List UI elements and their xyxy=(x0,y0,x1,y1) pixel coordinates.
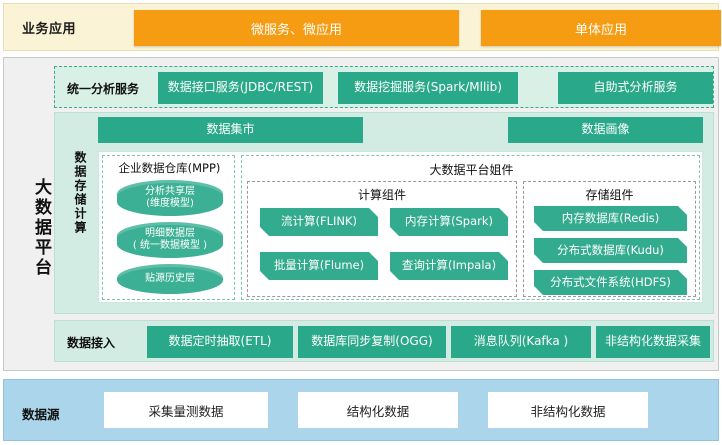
app-button-microservice[interactable]: 微服务、微应用 xyxy=(134,10,459,46)
compute-item-spark[interactable]: 内存计算(Spark) xyxy=(390,208,508,236)
data-ingestion-strip: 数据接入 数据定时抽取(ETL) 数据库同步复制(OGG) 消息队列(Kafka… xyxy=(54,320,714,362)
ingestion-item-etl[interactable]: 数据定时抽取(ETL) xyxy=(147,326,293,358)
unified-analysis-service-strip: 统一分析服务 数据接口服务(JDBC/REST) 数据挖掘服务(Spark/Ml… xyxy=(54,66,714,108)
big-data-platform-band: 大数据平台 统一分析服务 数据接口服务(JDBC/REST) 数据挖掘服务(Sp… xyxy=(3,57,719,371)
data-source-label: 数据源 xyxy=(22,404,60,423)
compute-item-flume[interactable]: 批量计算(Flume) xyxy=(260,252,378,280)
big-data-platform-label: 大数据平台 xyxy=(14,178,54,278)
analysis-item-data-mining[interactable]: 数据挖掘服务(Spark/Mllib) xyxy=(338,72,518,104)
data-ingestion-label: 数据接入 xyxy=(67,334,115,351)
data-source-item-unstructured[interactable]: 非结构化数据 xyxy=(488,392,648,428)
compute-components-title: 计算组件 xyxy=(248,186,516,203)
storage-compute-section: 数据存储计算 数据集市 数据画像 企业数据仓库(MPP) 分析共享层 (维度模型… xyxy=(54,112,714,314)
ingestion-item-unstructured[interactable]: 非结构化数据采集 xyxy=(596,326,710,358)
compute-item-impala[interactable]: 查询计算(Impala) xyxy=(390,252,508,280)
data-source-item-measurement[interactable]: 采集量测数据 xyxy=(104,392,268,428)
analysis-item-data-interface[interactable]: 数据接口服务(JDBC/REST) xyxy=(158,72,323,104)
mpp-warehouse-box: 企业数据仓库(MPP) 分析共享层 (维度模型) 明细数据层 ( 统一数据模型 … xyxy=(102,155,235,300)
analysis-item-self-service[interactable]: 自助式分析服务 xyxy=(558,72,713,104)
bdp-components-title: 大数据平台姐件 xyxy=(242,161,701,178)
compute-components-box: 计算组件 流计算(FLINK) 内存计算(Spark) 批量计算(Flume) … xyxy=(247,181,517,297)
mpp-layer-analysis-share[interactable]: 分析共享层 (维度模型) xyxy=(117,180,223,216)
business-application-label: 业务应用 xyxy=(22,18,76,37)
architecture-diagram: 业务应用 微服务、微应用 单体应用 大数据平台 统一分析服务 数据接口服务(JD… xyxy=(0,0,722,445)
app-button-monolith[interactable]: 单体应用 xyxy=(481,10,721,46)
unified-analysis-service-label: 统一分析服务 xyxy=(67,80,139,97)
compute-item-flink[interactable]: 流计算(FLINK) xyxy=(260,208,378,236)
storage-components-box: 存储组件 内存数据库(Redis) 分布式数据库(Kudu) 分布式文件系统(H… xyxy=(523,181,696,297)
storage-item-hdfs[interactable]: 分布式文件系统(HDFS) xyxy=(534,270,687,295)
mpp-layer-detail-data[interactable]: 明细数据层 ( 统一数据模型 ) xyxy=(117,222,223,258)
storage-components-title: 存储组件 xyxy=(524,186,695,203)
mpp-layer-source-history[interactable]: 贴源历史层 xyxy=(117,264,223,294)
storage-compute-inner-card: 企业数据仓库(MPP) 分析共享层 (维度模型) 明细数据层 ( 统一数据模型 … xyxy=(98,151,703,303)
ingestion-item-kafka[interactable]: 消息队列(Kafka ) xyxy=(451,326,591,358)
business-application-band: 业务应用 微服务、微应用 单体应用 xyxy=(3,3,719,51)
mpp-warehouse-title: 企业数据仓库(MPP) xyxy=(103,160,236,176)
data-mart-box[interactable]: 数据集市 xyxy=(98,117,363,143)
data-source-item-structured[interactable]: 结构化数据 xyxy=(298,392,458,428)
storage-item-kudu[interactable]: 分布式数据库(Kudu) xyxy=(534,238,687,263)
storage-compute-label: 数据存储计算 xyxy=(63,151,89,235)
data-mart-row: 数据集市 数据画像 xyxy=(55,113,715,145)
bdp-components-box: 大数据平台姐件 计算组件 流计算(FLINK) 内存计算(Spark) 批量计算… xyxy=(241,155,700,300)
data-source-band: 数据源 采集量测数据 结构化数据 非结构化数据 xyxy=(3,379,719,441)
ingestion-item-ogg[interactable]: 数据库同步复制(OGG) xyxy=(298,326,446,358)
data-profile-box[interactable]: 数据画像 xyxy=(508,117,703,143)
storage-item-redis[interactable]: 内存数据库(Redis) xyxy=(534,206,687,231)
